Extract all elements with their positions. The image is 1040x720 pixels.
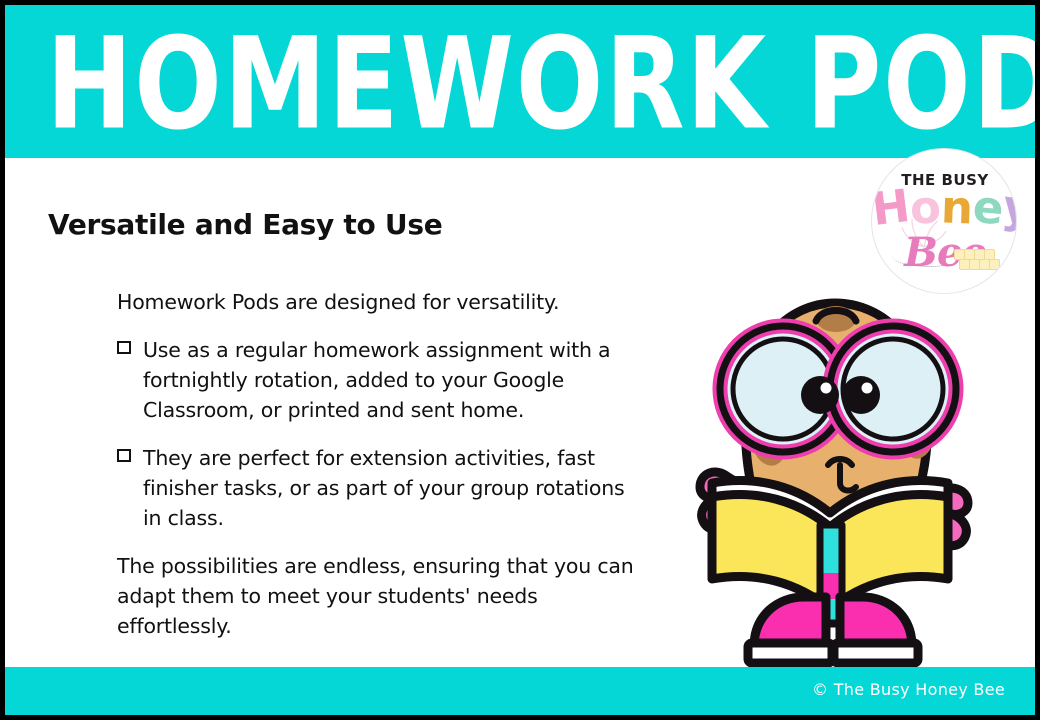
bee-reading-book-illustration — [650, 297, 1010, 672]
section-heading: Versatile and Easy to Use — [48, 208, 442, 241]
closing-paragraph: The possibilities are endless, ensuring … — [117, 551, 642, 641]
logo-letter-o: o — [908, 182, 941, 234]
logo-circle-background: THE BUSY Honey Bee — [871, 148, 1017, 294]
copyright-credit: © The Busy Honey Bee — [812, 680, 1005, 699]
list-item: They are perfect for extension activitie… — [117, 443, 642, 533]
logo-letter-h: H — [871, 181, 913, 235]
title-banner: HOMEWORK POD — [5, 5, 1035, 158]
checkbox-square-icon — [117, 341, 131, 354]
body-content: Homework Pods are designed for versatili… — [117, 287, 642, 641]
honeycomb-icon — [954, 247, 1000, 273]
page-title: HOMEWORK POD — [46, 11, 994, 158]
list-item-text: Use as a regular homework assignment wit… — [143, 338, 610, 422]
list-item-text: They are perfect for extension activitie… — [143, 446, 625, 530]
logo-letter-n: n — [940, 182, 974, 233]
footer-bar: © The Busy Honey Bee — [5, 667, 1035, 715]
list-item: Use as a regular homework assignment wit… — [117, 335, 642, 425]
intro-paragraph: Homework Pods are designed for versatili… — [117, 287, 642, 317]
slide-canvas: HOMEWORK POD Versatile and Easy to Use H… — [5, 5, 1035, 715]
brand-logo: THE BUSY Honey Bee — [871, 148, 1017, 294]
checkbox-square-icon — [117, 449, 131, 462]
logo-word-honey: Honey — [872, 183, 1017, 233]
